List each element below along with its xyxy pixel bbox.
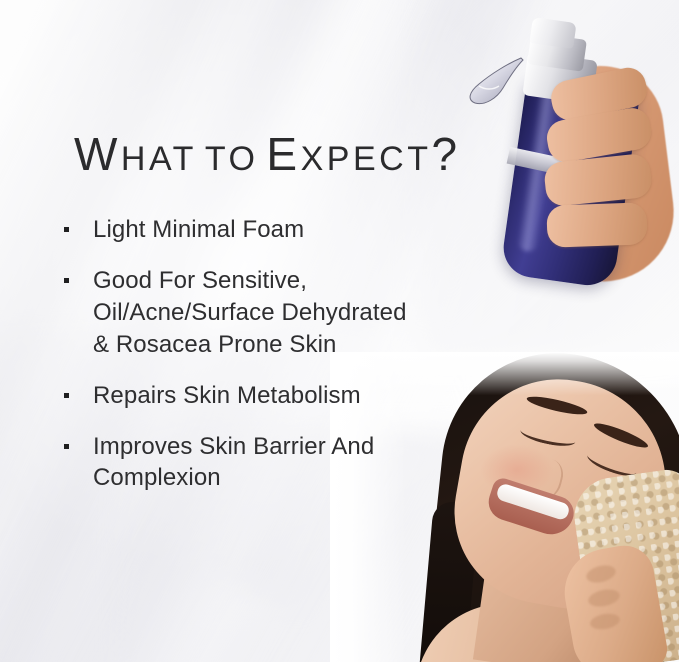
bullet-icon <box>64 227 69 232</box>
title-question-mark: ? <box>431 128 460 180</box>
list-item-label: Repairs Skin Metabolism <box>93 380 361 412</box>
bullet-icon <box>64 393 69 398</box>
bullet-icon <box>64 444 69 449</box>
list-item: Improves Skin Barrier And Complexion <box>64 431 504 495</box>
title-word-to: TO <box>205 140 259 178</box>
title-initial-w: W <box>74 128 121 180</box>
title-word-xpect: XPECT <box>301 140 432 178</box>
page-title: WHAT TO EXPECT? <box>74 131 461 177</box>
benefits-list: Light Minimal Foam Good For Sensitive, O… <box>64 214 504 513</box>
promo-graphic: WHAT TO EXPECT? Light Minimal Foam Good … <box>0 0 679 662</box>
list-item-label: Good For Sensitive, Oil/Acne/Surface Deh… <box>93 265 407 361</box>
title-initial-e: E <box>266 128 300 180</box>
list-item: Repairs Skin Metabolism <box>64 380 504 412</box>
finger <box>546 202 647 247</box>
list-item: Light Minimal Foam <box>64 214 504 246</box>
serum-droplet-icon <box>463 54 525 106</box>
list-item-label: Light Minimal Foam <box>93 214 304 246</box>
bullet-icon <box>64 278 69 283</box>
list-item: Good For Sensitive, Oil/Acne/Surface Deh… <box>64 265 504 361</box>
list-item-label: Improves Skin Barrier And Complexion <box>93 431 374 495</box>
title-word-hat: HAT <box>121 140 197 178</box>
